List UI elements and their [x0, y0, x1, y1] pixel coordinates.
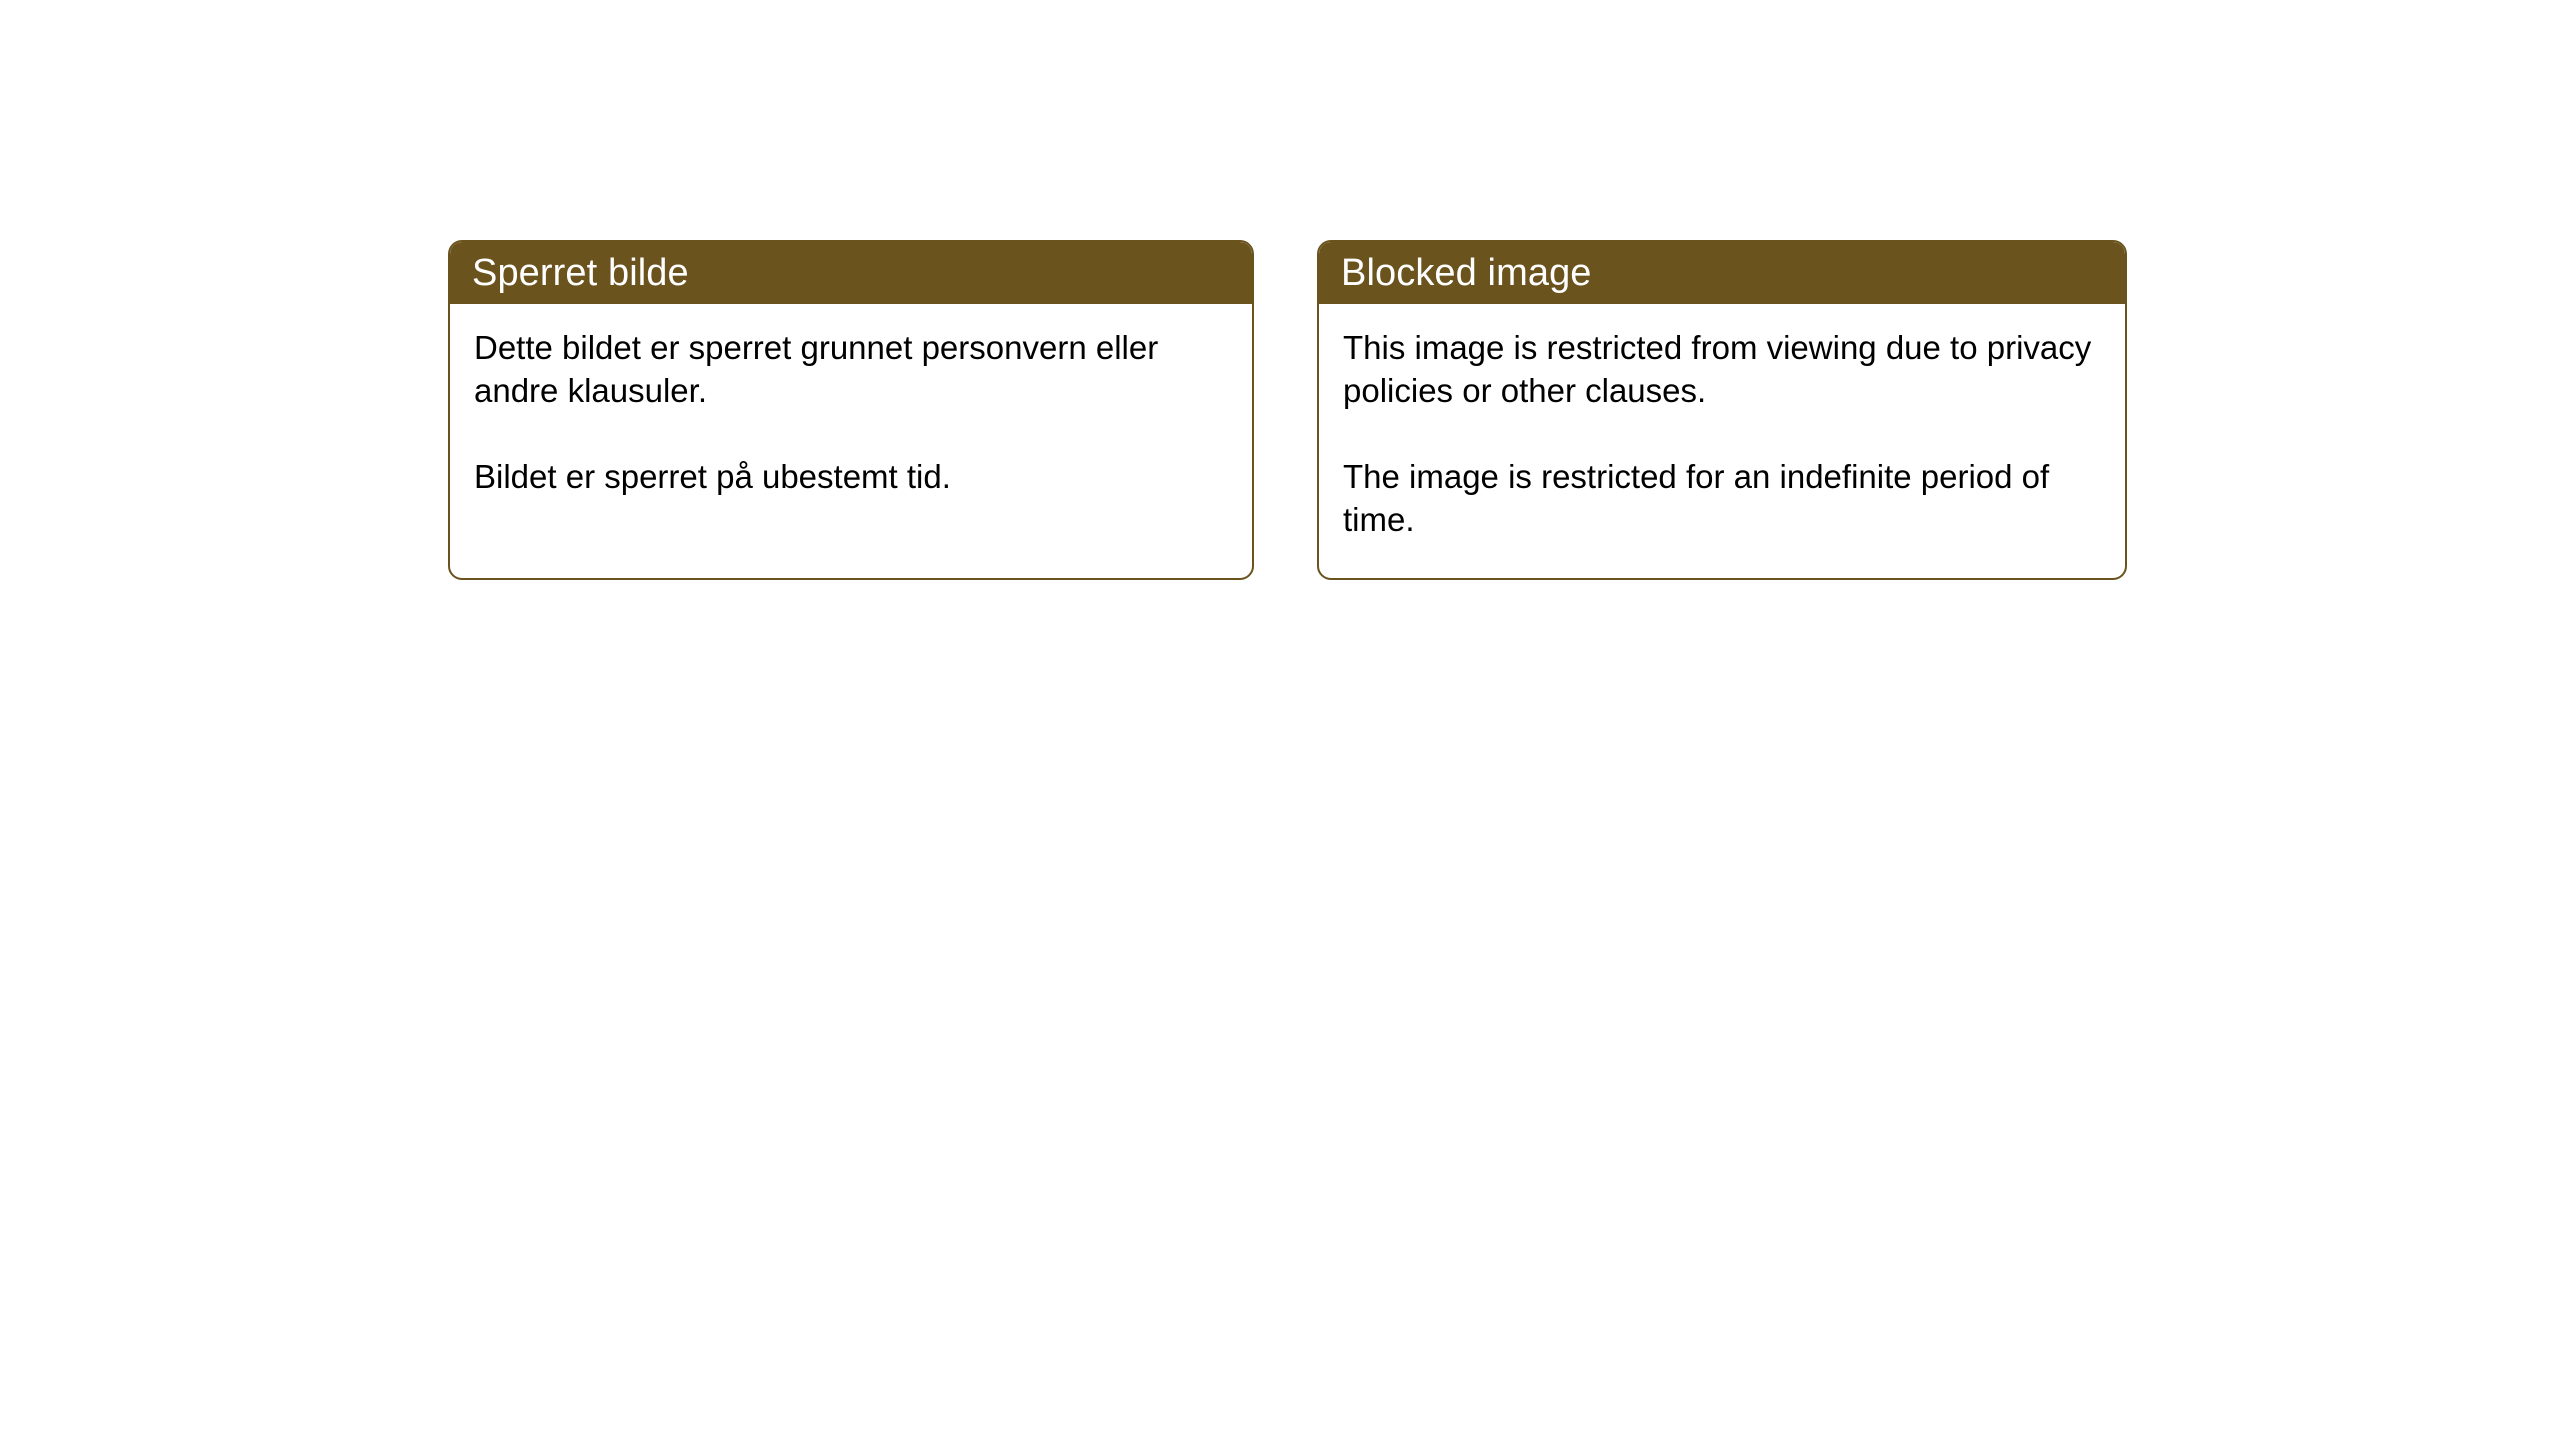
panel-paragraph-duration-norwegian: Bildet er sperret på ubestemt tid. [474, 455, 1230, 498]
blocked-image-panel-english: Blocked image This image is restricted f… [1317, 240, 2127, 580]
panel-title-norwegian: Sperret bilde [472, 254, 689, 292]
blocked-image-panel-norwegian: Sperret bilde Dette bildet er sperret gr… [448, 240, 1254, 580]
panel-title-english: Blocked image [1341, 254, 1592, 292]
panel-header-norwegian: Sperret bilde [450, 242, 1252, 304]
panel-header-english: Blocked image [1319, 242, 2125, 304]
panel-body-norwegian: Dette bildet er sperret grunnet personve… [450, 304, 1252, 498]
panel-body-english: This image is restricted from viewing du… [1319, 304, 2125, 541]
page-canvas: Sperret bilde Dette bildet er sperret gr… [0, 0, 2560, 1440]
panel-paragraph-duration-english: The image is restricted for an indefinit… [1343, 455, 2103, 541]
panel-paragraph-reason-norwegian: Dette bildet er sperret grunnet personve… [474, 326, 1230, 412]
panel-paragraph-reason-english: This image is restricted from viewing du… [1343, 326, 2103, 412]
